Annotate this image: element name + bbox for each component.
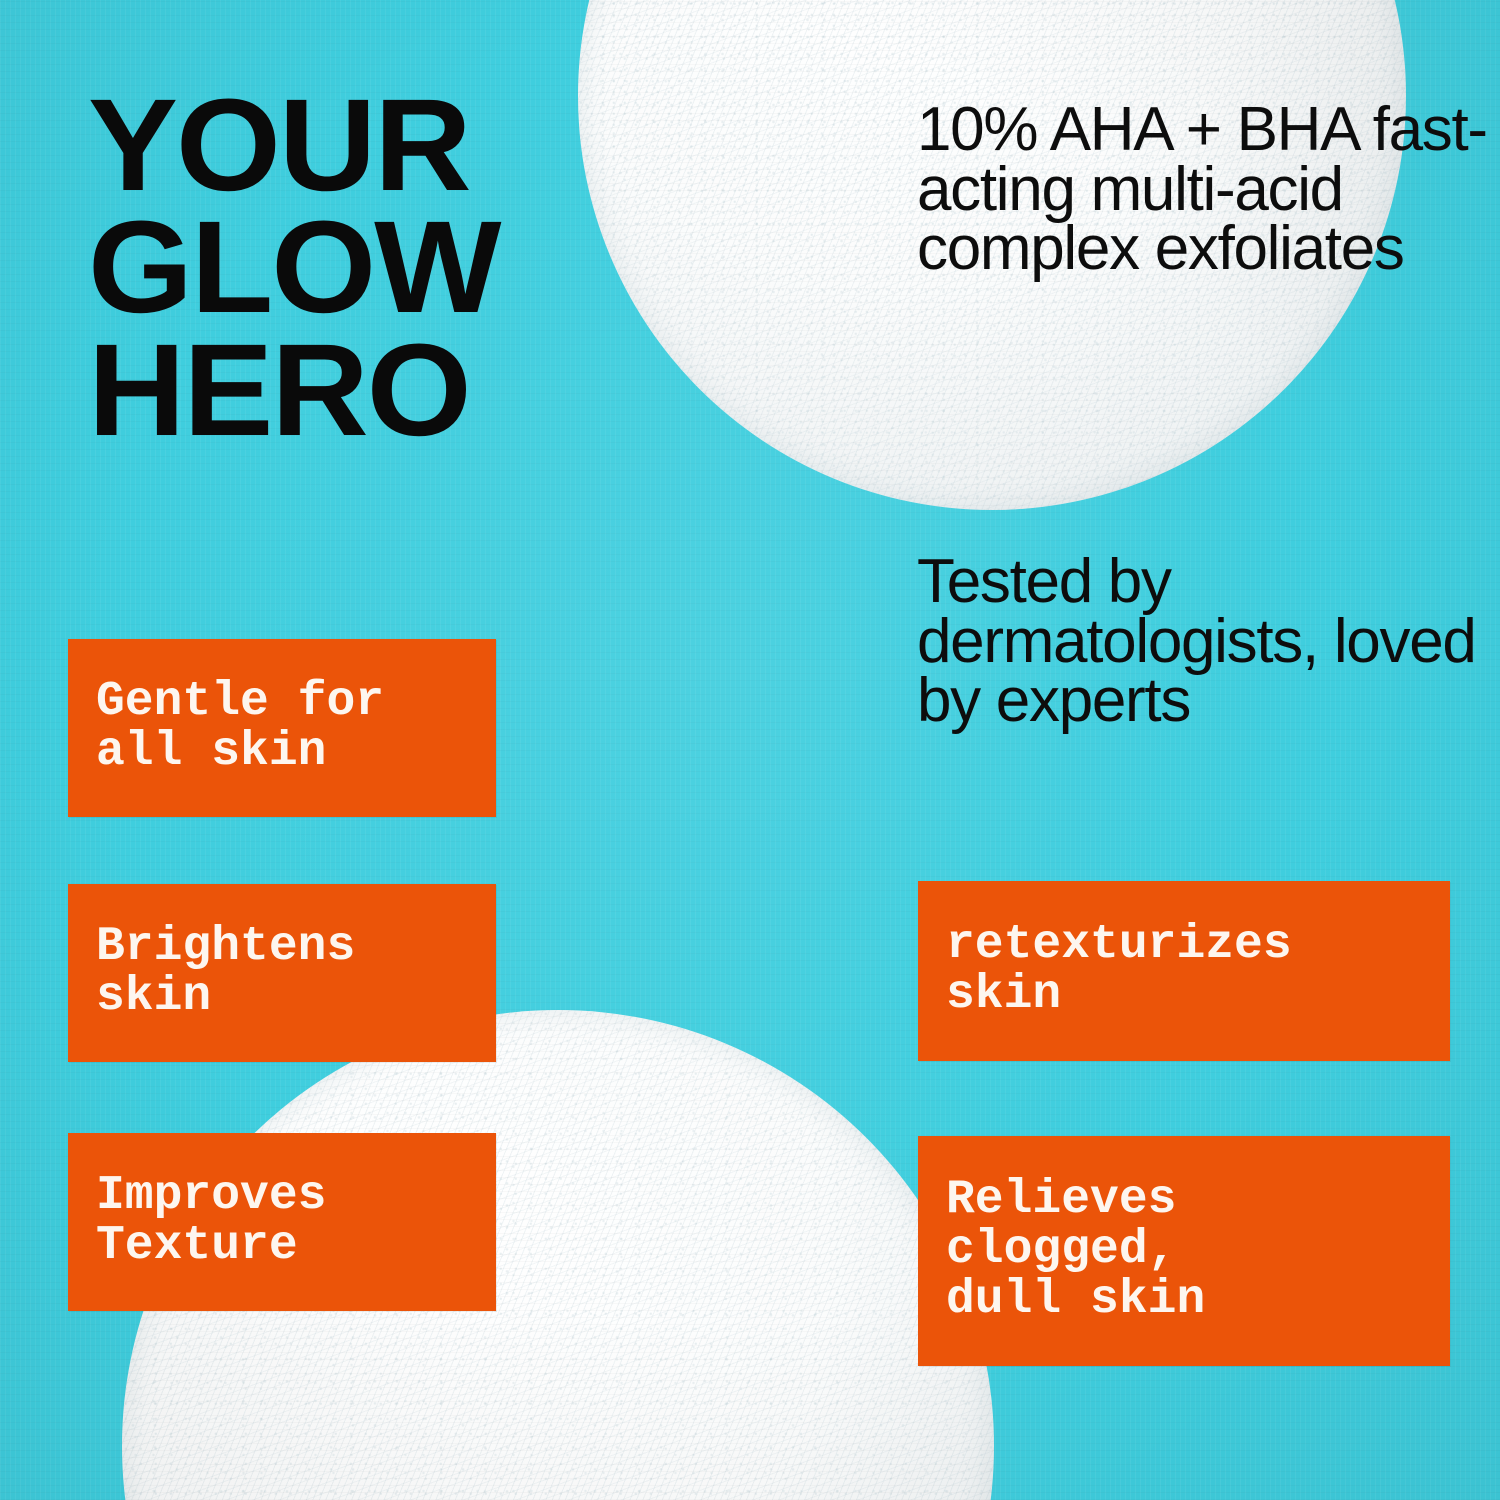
product-infographic: YOUR GLOW HERO 10% AHA + BHA fast-acting… bbox=[0, 0, 1500, 1500]
benefit-badge-gentle: Gentle for all skin bbox=[68, 639, 496, 817]
benefit-badge-relieves-clogged: Relieves clogged, dull skin bbox=[918, 1136, 1450, 1366]
page-title: YOUR GLOW HERO bbox=[88, 84, 624, 451]
benefit-badge-improves-texture: Improves Texture bbox=[68, 1133, 496, 1311]
benefit-badge-retexturizes: retexturizes skin bbox=[918, 881, 1450, 1061]
headline-line-1: YOUR bbox=[88, 84, 624, 206]
headline-line-2: GLOW bbox=[88, 206, 624, 328]
claim-dermatologist-tested: Tested by dermatologists, loved by exper… bbox=[917, 552, 1500, 731]
claim-acid-complex: 10% AHA + BHA fast-acting multi-acid com… bbox=[917, 100, 1500, 279]
benefit-badge-brightens: Brightens skin bbox=[68, 884, 496, 1062]
headline-line-3: HERO bbox=[88, 329, 624, 451]
